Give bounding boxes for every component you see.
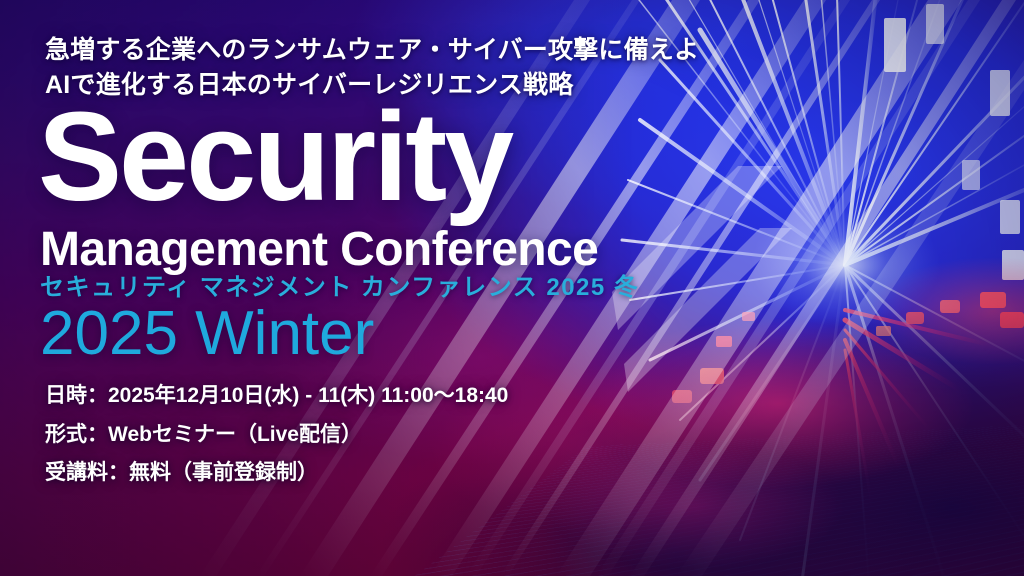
title-kana-subtitle: セキュリティ マネジメント カンファレンス 2025 冬 [40, 276, 639, 300]
info-fee: 受講料：無料（事前登録制） [45, 456, 318, 486]
title-edition: 2025 Winter [40, 303, 374, 365]
banner-content: 急増する企業へのランサムウェア・サイバー攻撃に備えよ AIで進化する日本のサイバ… [0, 0, 1024, 576]
conference-banner: 急増する企業へのランサムウェア・サイバー攻撃に備えよ AIで進化する日本のサイバ… [0, 0, 1024, 576]
title-subtitle: Management Conference [40, 226, 598, 274]
info-format: 形式：Webセミナー（Live配信） [45, 418, 362, 448]
page-title: Security [38, 94, 511, 220]
info-date: 日時：2025年12月10日(水) - 11(木) 11:00〜18:40 [45, 379, 508, 409]
lede-line-1: 急増する企業へのランサムウェア・サイバー攻撃に備えよ [45, 30, 699, 66]
